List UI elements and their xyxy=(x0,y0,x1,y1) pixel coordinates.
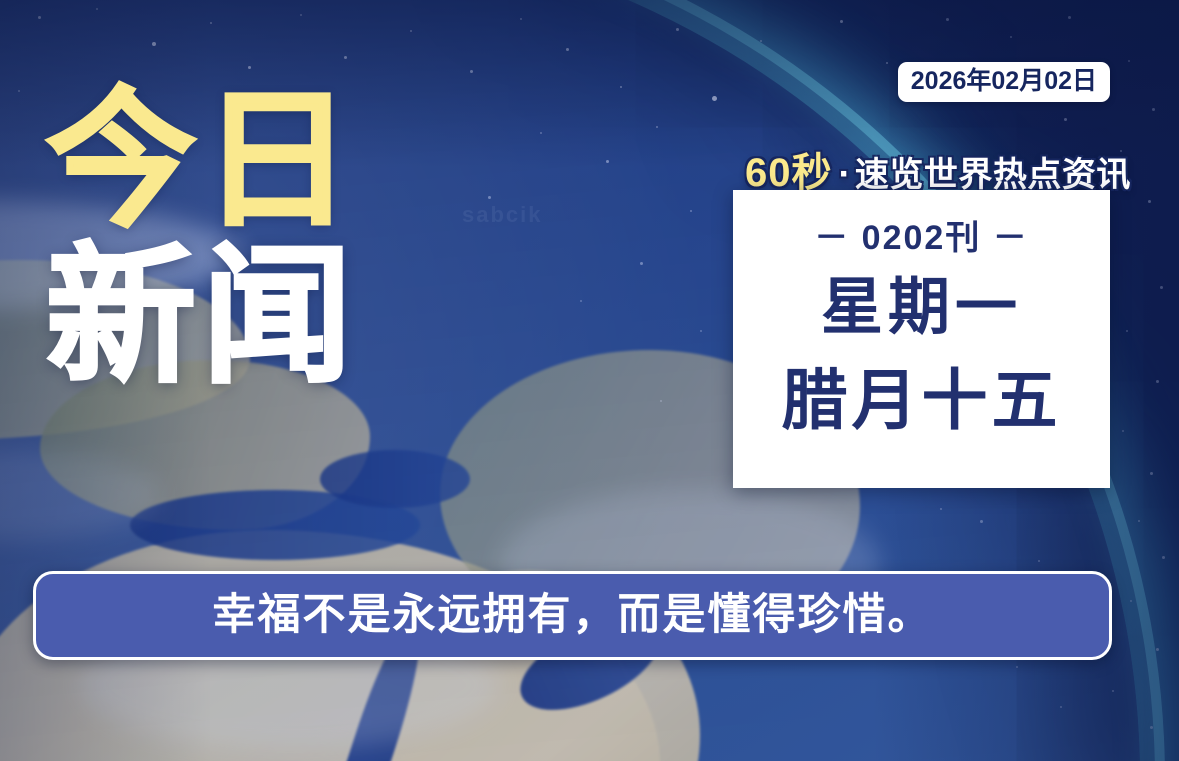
issue-number: － 0202刊 － xyxy=(814,210,1029,259)
tagline-description: 速览世界热点资讯 xyxy=(855,156,1131,194)
tagline-separator-icon: · xyxy=(839,153,852,194)
weekday-label: 星期一 xyxy=(821,277,1022,339)
issue-info-card: － 0202刊 － 星期一 腊月十五 xyxy=(733,190,1110,488)
page-title: 今日 新闻 xyxy=(46,88,476,389)
date-badge: 2026年02月02日 xyxy=(898,62,1110,102)
quote-banner: 幸福不是永远拥有，而是懂得珍惜。 xyxy=(33,571,1112,660)
headline-line-2: 新闻 xyxy=(46,244,476,390)
quote-text: 幸福不是永远拥有，而是懂得珍惜。 xyxy=(213,594,933,637)
poster-canvas: sabcik 今日 新闻 2026年02月02日 60秒·速览世界热点资讯 － … xyxy=(0,0,1179,761)
tagline-duration: 60秒 xyxy=(745,151,833,195)
lunar-date-label: 腊月十五 xyxy=(782,367,1062,433)
headline-line-1: 今日 xyxy=(46,88,476,234)
